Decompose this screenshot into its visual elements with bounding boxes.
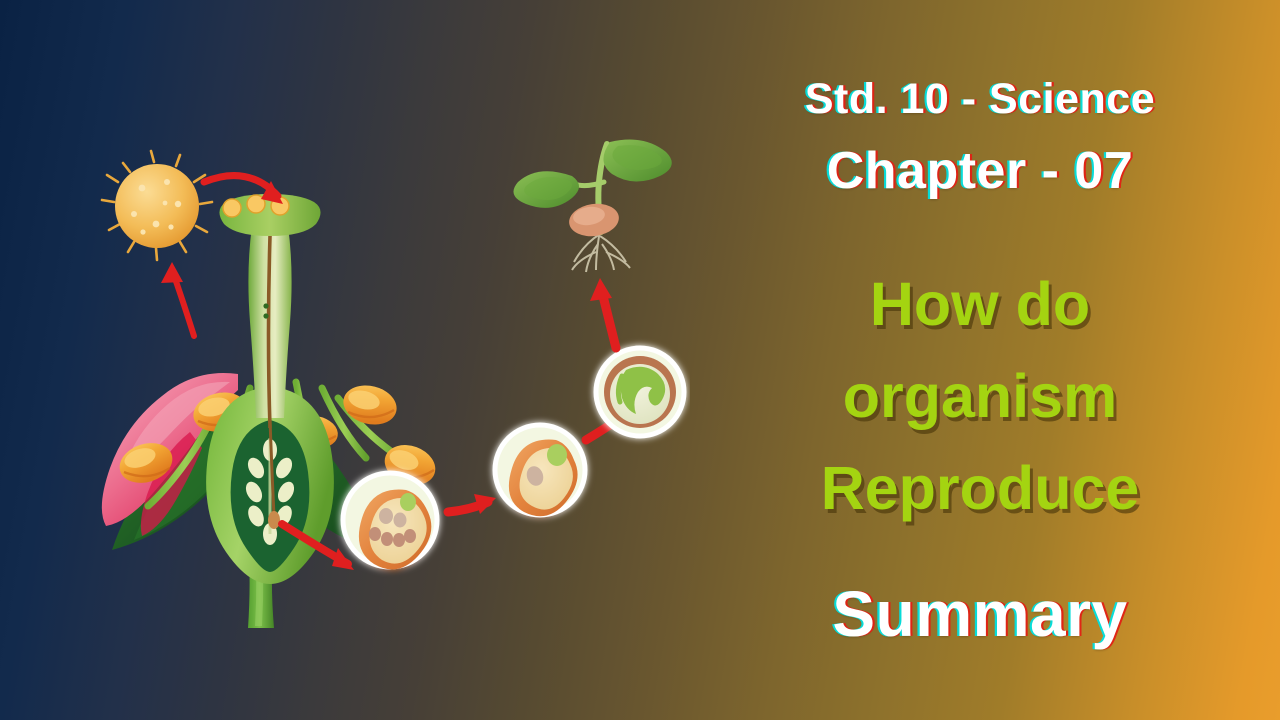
- ovule-stage-1: [343, 473, 437, 569]
- title-text-column: Std. 10 - Science Chapter - 07 How do or…: [700, 0, 1260, 720]
- arrow-anther-to-pollen-head: [161, 262, 183, 283]
- ovule-stage-3: [596, 348, 684, 436]
- arrow-stage-1-to-stage-2: [448, 494, 496, 514]
- standard-subject-line: Std. 10 - Science: [700, 74, 1260, 124]
- summary-label: Summary: [700, 576, 1260, 652]
- slide-canvas: Std. 10 - Science Chapter - 07 How do or…: [0, 0, 1280, 720]
- chapter-title-line-1: How do: [700, 258, 1260, 350]
- seedling-roots: [572, 230, 630, 272]
- seedling: [514, 140, 672, 272]
- chapter-title-line-3: Reproduce: [700, 442, 1260, 534]
- pollen-grain: [102, 151, 212, 260]
- chapter-title-line-2: organism: [700, 350, 1260, 442]
- anther: [339, 380, 401, 430]
- plant-reproduction-illustration: [70, 120, 690, 640]
- chapter-number-line: Chapter - 07: [700, 140, 1260, 202]
- ovule-stage-2: [495, 425, 585, 516]
- arrow-stage-3-to-seedling: [590, 278, 616, 348]
